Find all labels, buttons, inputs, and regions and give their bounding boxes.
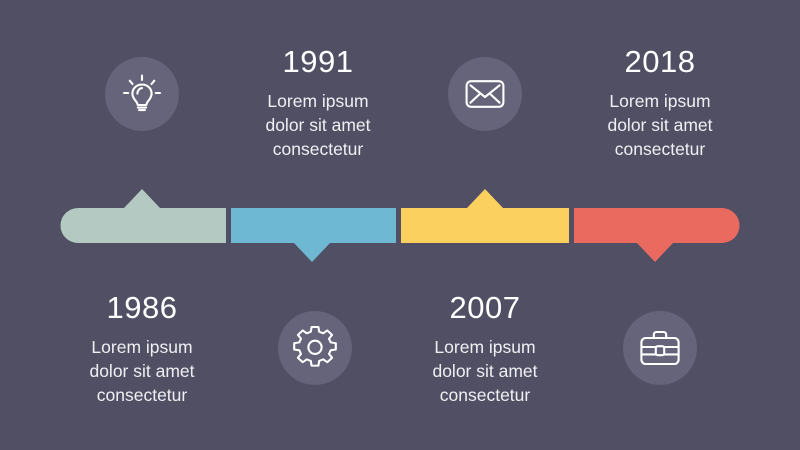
- description-line-3: consectetur: [218, 137, 418, 161]
- milestone-description-2018: Lorem ipsum dolor sit amet consectetur: [560, 89, 760, 161]
- milestone-year-2018: 2018: [560, 46, 760, 77]
- envelope-icon: [463, 76, 507, 112]
- milestone-description-1986: Lorem ipsum dolor sit amet consectetur: [42, 335, 242, 407]
- milestone-icon-briefcase[interactable]: [623, 311, 697, 385]
- description-line-1: Lorem ipsum: [218, 89, 418, 113]
- milestone-description-1991: Lorem ipsum dolor sit amet consectetur: [218, 89, 418, 161]
- milestone-text-1991: 1991 Lorem ipsum dolor sit amet consecte…: [218, 46, 418, 161]
- gear-icon: [294, 327, 336, 369]
- milestone-text-2018: 2018 Lorem ipsum dolor sit amet consecte…: [560, 46, 760, 161]
- milestone-text-1986: 1986 Lorem ipsum dolor sit amet consecte…: [42, 292, 242, 407]
- lightbulb-icon: [120, 72, 164, 116]
- description-line-3: consectetur: [385, 383, 585, 407]
- description-line-3: consectetur: [560, 137, 760, 161]
- description-line-1: Lorem ipsum: [560, 89, 760, 113]
- timeline-segment-1[interactable]: [61, 189, 227, 243]
- description-line-1: Lorem ipsum: [385, 335, 585, 359]
- timeline-segment-4[interactable]: [574, 208, 740, 262]
- infographic-canvas: 1991 Lorem ipsum dolor sit amet consecte…: [0, 0, 800, 450]
- milestone-description-2007: Lorem ipsum dolor sit amet consectetur: [385, 335, 585, 407]
- briefcase-icon: [638, 328, 682, 368]
- milestone-icon-lightbulb[interactable]: [105, 57, 179, 131]
- milestone-icon-envelope[interactable]: [448, 57, 522, 131]
- description-line-2: dolor sit amet: [42, 359, 242, 383]
- description-line-2: dolor sit amet: [560, 113, 760, 137]
- timeline-segment-2[interactable]: [231, 208, 396, 262]
- milestone-year-2007: 2007: [385, 292, 585, 323]
- milestone-year-1986: 1986: [42, 292, 242, 323]
- description-line-2: dolor sit amet: [218, 113, 418, 137]
- milestone-text-2007: 2007 Lorem ipsum dolor sit amet consecte…: [385, 292, 585, 407]
- milestone-year-1991: 1991: [218, 46, 418, 77]
- description-line-3: consectetur: [42, 383, 242, 407]
- description-line-2: dolor sit amet: [385, 359, 585, 383]
- description-line-1: Lorem ipsum: [42, 335, 242, 359]
- timeline-segment-3[interactable]: [401, 189, 569, 243]
- milestone-icon-gear[interactable]: [278, 311, 352, 385]
